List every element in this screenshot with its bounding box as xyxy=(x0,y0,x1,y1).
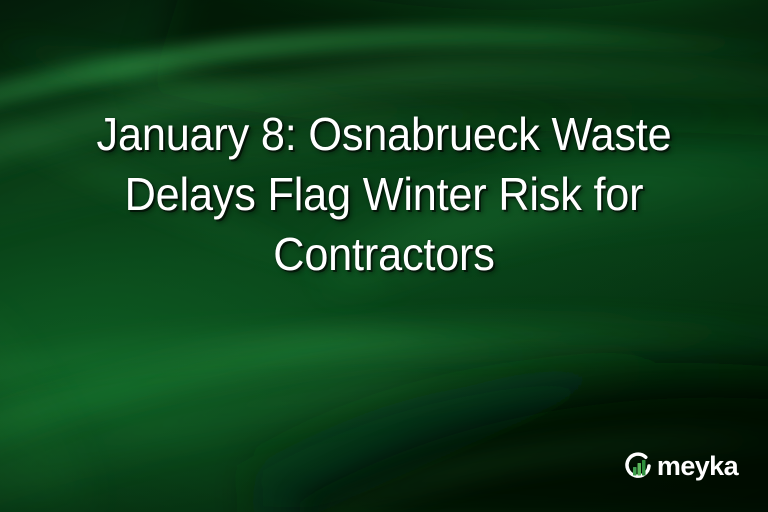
meyka-circle-bars-icon xyxy=(622,450,654,482)
brand-logo: meyka xyxy=(622,450,738,482)
brand-wordmark: meyka xyxy=(657,453,738,480)
title-line-2: Delays Flag Winter Risk for xyxy=(47,164,720,224)
title-line-3: Contractors xyxy=(47,224,720,284)
banner-card: January 8: Osnabrueck Waste Delays Flag … xyxy=(0,0,768,512)
title-line-1: January 8: Osnabrueck Waste xyxy=(47,104,720,164)
page-title: January 8: Osnabrueck Waste Delays Flag … xyxy=(0,104,768,284)
